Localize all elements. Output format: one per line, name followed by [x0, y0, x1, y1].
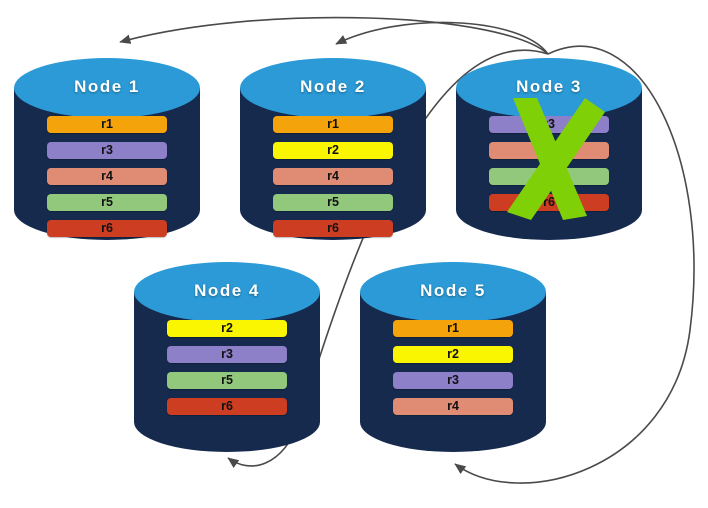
- replica-bar[interactable]: r4: [273, 168, 393, 185]
- replica-bar[interactable]: r5: [273, 194, 393, 211]
- node-3-replica-list: r3r4r5r6: [456, 116, 642, 211]
- replica-bar[interactable]: r4: [47, 168, 167, 185]
- replica-bar[interactable]: r3: [393, 372, 513, 389]
- replica-bar[interactable]: r1: [273, 116, 393, 133]
- replica-bar[interactable]: r2: [393, 346, 513, 363]
- node-3[interactable]: Node 3r3r4r5r6: [456, 58, 642, 240]
- replica-bar[interactable]: r4: [393, 398, 513, 415]
- replica-bar[interactable]: r6: [273, 220, 393, 237]
- replica-bar[interactable]: r2: [273, 142, 393, 159]
- node-4[interactable]: Node 4r2r3r5r6: [134, 262, 320, 452]
- node-5-replica-list: r1r2r3r4: [360, 320, 546, 415]
- replica-bar[interactable]: r3: [47, 142, 167, 159]
- replica-bar[interactable]: r2: [167, 320, 287, 337]
- node-2[interactable]: Node 2r1r2r4r5r6: [240, 58, 426, 240]
- replica-bar[interactable]: r1: [47, 116, 167, 133]
- node-2-replica-list: r1r2r4r5r6: [240, 116, 426, 237]
- replica-bar[interactable]: r1: [393, 320, 513, 337]
- replica-bar[interactable]: r3: [489, 116, 609, 133]
- node-1[interactable]: Node 1r1r3r4r5r6: [14, 58, 200, 240]
- replica-bar[interactable]: r5: [489, 168, 609, 185]
- node-1-replica-list: r1r3r4r5r6: [14, 116, 200, 237]
- cylinder-top: [456, 58, 642, 118]
- replica-bar[interactable]: r3: [167, 346, 287, 363]
- arrow-node3-to-node2: [336, 22, 548, 54]
- replica-bar[interactable]: r6: [47, 220, 167, 237]
- node-5[interactable]: Node 5r1r2r3r4: [360, 262, 546, 452]
- arrow-node3-to-node1: [120, 18, 548, 54]
- node-4-replica-list: r2r3r5r6: [134, 320, 320, 415]
- cylinder-top: [134, 262, 320, 322]
- cylinder-top: [240, 58, 426, 118]
- diagram-canvas: Node 1r1r3r4r5r6Node 2r1r2r4r5r6Node 3r3…: [0, 0, 708, 508]
- replica-bar[interactable]: r4: [489, 142, 609, 159]
- replica-bar[interactable]: r5: [47, 194, 167, 211]
- replica-bar[interactable]: r6: [167, 398, 287, 415]
- cylinder-top: [14, 58, 200, 118]
- replica-bar[interactable]: r5: [167, 372, 287, 389]
- cylinder-top: [360, 262, 546, 322]
- replica-bar[interactable]: r6: [489, 194, 609, 211]
